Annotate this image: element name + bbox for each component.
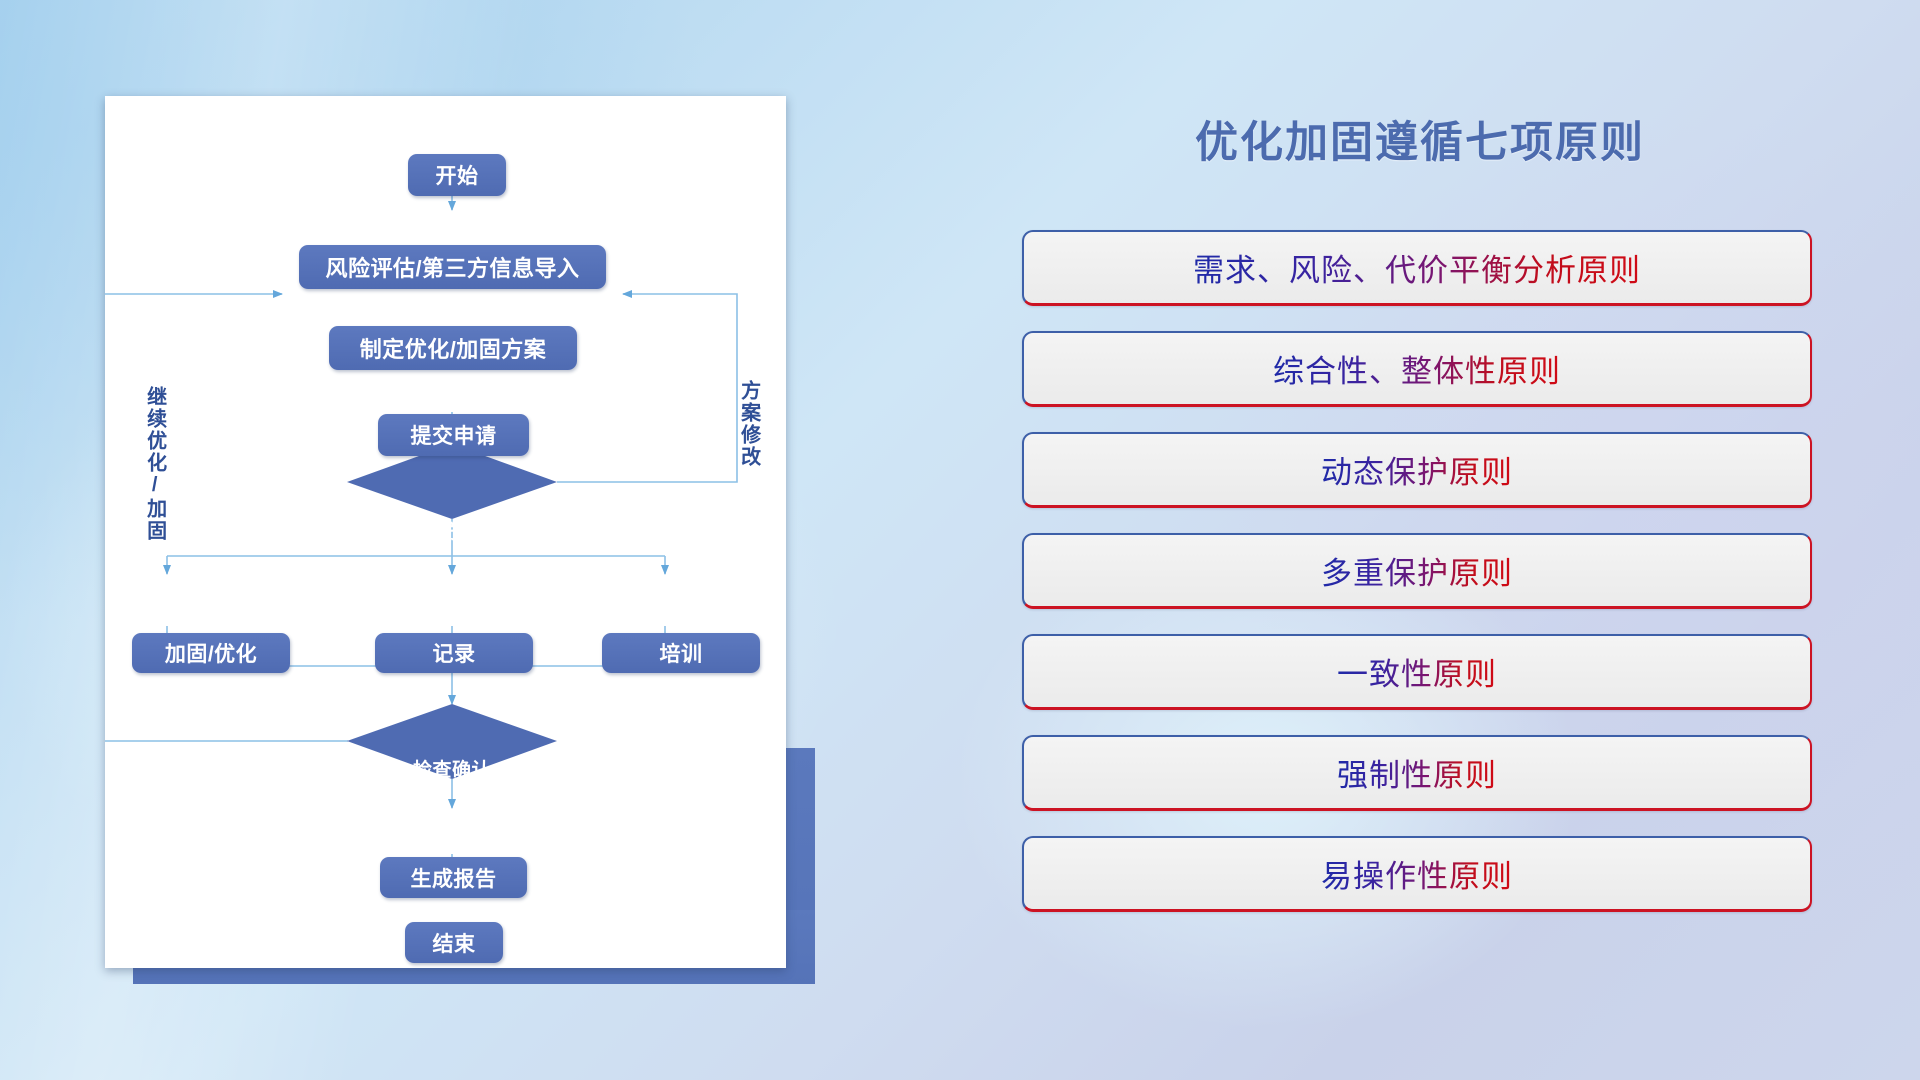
flow-node-end-label: 结束 [433,928,476,958]
flow-node-reinforce[interactable]: 加固/优化 [132,633,290,673]
flow-node-owner-confirm[interactable]: 业主方确认 [372,512,532,548]
flow-node-risk-assessment[interactable]: 风险评估/第三方信息导入 [299,245,606,289]
flow-node-reinforce-label: 加固/优化 [165,638,257,668]
principle-card[interactable]: 综合性、整体性原则 [1022,331,1812,407]
flow-node-submit[interactable]: 提交申请 [378,414,529,456]
principle-card[interactable]: 多重保护原则 [1022,533,1812,609]
principle-card-label: 动态保护原则 [1321,447,1513,492]
flow-node-training[interactable]: 培训 [602,633,760,673]
principle-card-label: 综合性、整体性原则 [1273,346,1561,391]
principle-card-label: 多重保护原则 [1321,548,1513,593]
principle-card[interactable]: 易操作性原则 [1022,836,1812,912]
flow-node-submit-label: 提交申请 [411,420,497,450]
principles-title: 优化加固遵循七项原则 [1010,108,1830,170]
principle-card[interactable]: 需求、风险、代价平衡分析原则 [1022,230,1812,306]
flow-node-record[interactable]: 记录 [375,633,533,673]
principle-card-label: 一致性原则 [1337,649,1497,694]
flow-node-end[interactable]: 结束 [405,922,503,963]
principle-card[interactable]: 一致性原则 [1022,634,1812,710]
principle-card-label: 需求、风险、代价平衡分析原则 [1193,245,1641,290]
flow-node-check-confirm-label: 检查确认 [413,755,491,782]
principle-card-label: 易操作性原则 [1321,851,1513,896]
flow-node-owner-confirm-label: 业主方确认 [403,517,501,544]
principle-card[interactable]: 强制性原则 [1022,735,1812,811]
flow-node-risk-assessment-label: 风险评估/第三方信息导入 [325,251,579,283]
flow-node-plan[interactable]: 制定优化/加固方案 [329,326,577,370]
flow-node-report[interactable]: 生成报告 [380,857,527,898]
flow-edge-label-left-loop: 继续优化/加固 [143,386,165,542]
flow-node-record-label: 记录 [433,638,476,668]
flow-node-plan-label: 制定优化/加固方案 [360,332,547,364]
principle-card-label: 强制性原则 [1337,750,1497,795]
flow-node-start-label: 开始 [436,160,479,190]
principles-card-list: 需求、风险、代价平衡分析原则 综合性、整体性原则 动态保护原则 多重保护原则 一… [1022,230,1812,937]
flow-node-check-confirm[interactable]: 检查确认 [372,750,532,786]
principle-card[interactable]: 动态保护原则 [1022,432,1812,508]
flow-node-report-label: 生成报告 [411,863,497,893]
flow-node-start[interactable]: 开始 [408,154,506,196]
flow-node-training-label: 培训 [660,638,703,668]
flow-edge-label-right-loop: 方案修改 [737,380,759,468]
